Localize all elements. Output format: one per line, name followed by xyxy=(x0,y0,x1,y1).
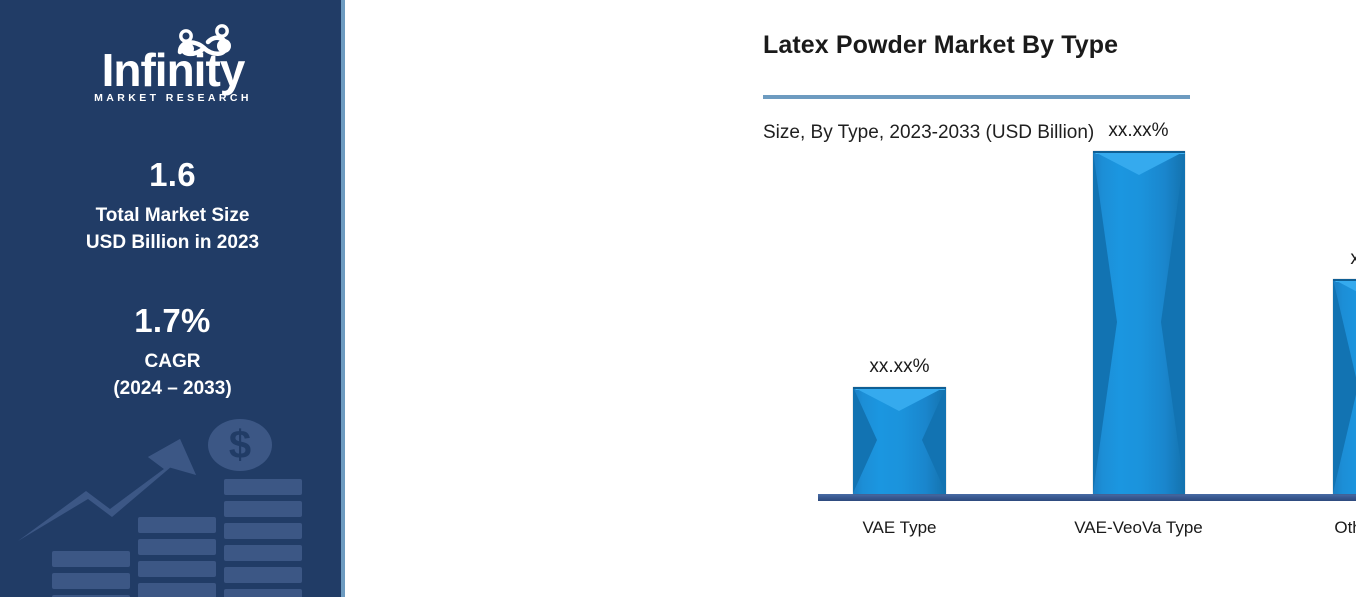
bar-value-label: xx.xx% xyxy=(869,356,929,378)
bar[interactable] xyxy=(1093,151,1185,494)
growth-arrow-coins-illustration: $ xyxy=(0,417,345,597)
x-axis-category-label: VAE Type xyxy=(862,518,936,538)
infographic-root: $ xyxy=(0,0,1356,597)
svg-text:$: $ xyxy=(229,423,251,467)
x-axis-category-label: VAE-VeoVa Type xyxy=(1074,518,1203,538)
stat-cagr: 1.7% CAGR (2024 – 2033) xyxy=(0,302,345,403)
svg-text:MARKET RESEARCH: MARKET RESEARCH xyxy=(94,92,252,104)
bar-bevel-right xyxy=(1161,151,1185,493)
stat-label-cagr: CAGR xyxy=(0,348,345,376)
bar[interactable] xyxy=(853,387,946,494)
x-axis-category-label: Other Types xyxy=(1334,518,1356,538)
bar-bevel-top xyxy=(1093,151,1185,199)
sidebar: $ xyxy=(0,0,345,597)
chart-panel: Latex Powder Market By Type Size, By Typ… xyxy=(345,0,1356,597)
bar-chart-plot-area: xx.xx%VAE Typexx.xx%VAE-VeoVa Typexx.xx%… xyxy=(400,0,1356,597)
bar-bevel-left xyxy=(1093,151,1117,493)
bar-value-label: xx.xx% xyxy=(1108,120,1168,142)
bar-group-2: xx.xx%VAE-VeoVa Type xyxy=(1058,151,1219,494)
bar-group-3: xx.xx%Other Types xyxy=(1300,279,1356,494)
bar-bevel-top xyxy=(1333,279,1356,329)
bar[interactable] xyxy=(1333,279,1356,494)
stat-label-market-size-line2: USD Billion in 2023 xyxy=(0,229,345,257)
stat-value-cagr: 1.7% xyxy=(0,302,345,340)
bar-value-label: xx.xx% xyxy=(1350,248,1356,270)
bar-group-1: xx.xx%VAE Type xyxy=(819,387,980,494)
bar-top-edge xyxy=(1333,279,1356,281)
stat-total-market-size: 1.6 Total Market Size USD Billion in 202… xyxy=(0,156,345,257)
bar-top-edge xyxy=(853,387,946,389)
bar-bevel-top xyxy=(853,387,945,435)
infinity-people-logo-icon: Infinity MARKET RESEARCH xyxy=(78,18,268,106)
x-axis-baseline xyxy=(818,494,1356,501)
stat-label-cagr-period: (2024 – 2033) xyxy=(0,375,345,403)
svg-text:Infinity: Infinity xyxy=(101,44,245,96)
stat-label-market-size-line1: Total Market Size xyxy=(0,202,345,230)
stat-value-market-size: 1.6 xyxy=(0,156,345,194)
logo: Infinity MARKET RESEARCH xyxy=(0,18,345,111)
bar-top-edge xyxy=(1093,151,1185,153)
